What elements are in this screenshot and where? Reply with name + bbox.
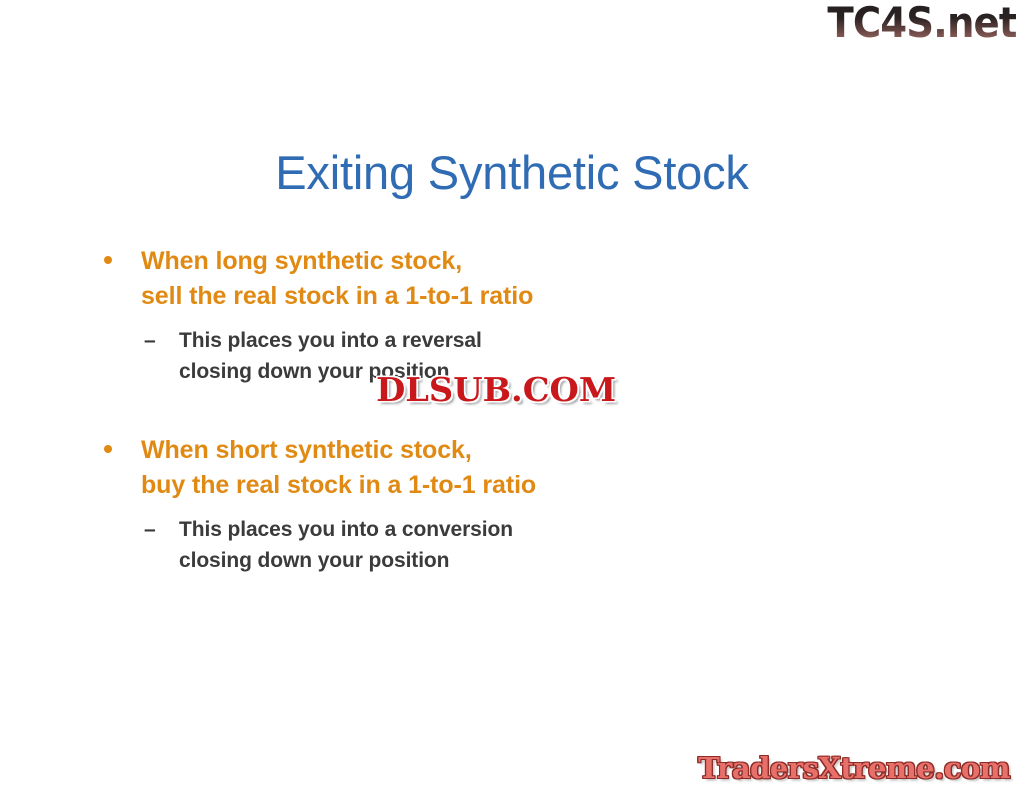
secondary-bullet-line: This places you into a reversal <box>179 325 956 356</box>
bullet-dot-icon <box>104 445 112 453</box>
presentation-slide: TC4S.net Exiting Synthetic Stock When lo… <box>0 0 1024 791</box>
bullet-block: When short synthetic stock, buy the real… <box>96 433 956 576</box>
primary-bullet-line: sell the real stock in a 1-to-1 ratio <box>141 279 956 314</box>
primary-bullet-line: When short synthetic stock, <box>141 433 956 468</box>
tradersxtreme-footer-logo: TradersXtreme.com <box>698 754 1010 783</box>
secondary-bullet-line: closing down your position <box>179 545 956 576</box>
tc4s-brand-logo: TC4S.net <box>827 2 1016 44</box>
secondary-bullet: – This places you into a conversion clos… <box>96 514 956 576</box>
bullet-dot-icon <box>104 256 112 264</box>
slide-title: Exiting Synthetic Stock <box>0 147 1024 200</box>
primary-bullet: When short synthetic stock, buy the real… <box>96 433 956 502</box>
primary-bullet: When long synthetic stock, sell the real… <box>96 244 956 313</box>
primary-bullet-line: When long synthetic stock, <box>141 244 956 279</box>
dash-bullet-icon: – <box>144 325 156 356</box>
dash-bullet-icon: – <box>144 514 156 545</box>
dlsub-watermark: DLSUB.COM <box>372 370 620 411</box>
secondary-bullet-line: This places you into a conversion <box>179 514 956 545</box>
bullet-block: When long synthetic stock, sell the real… <box>96 244 956 387</box>
primary-bullet-line: buy the real stock in a 1-to-1 ratio <box>141 468 956 503</box>
